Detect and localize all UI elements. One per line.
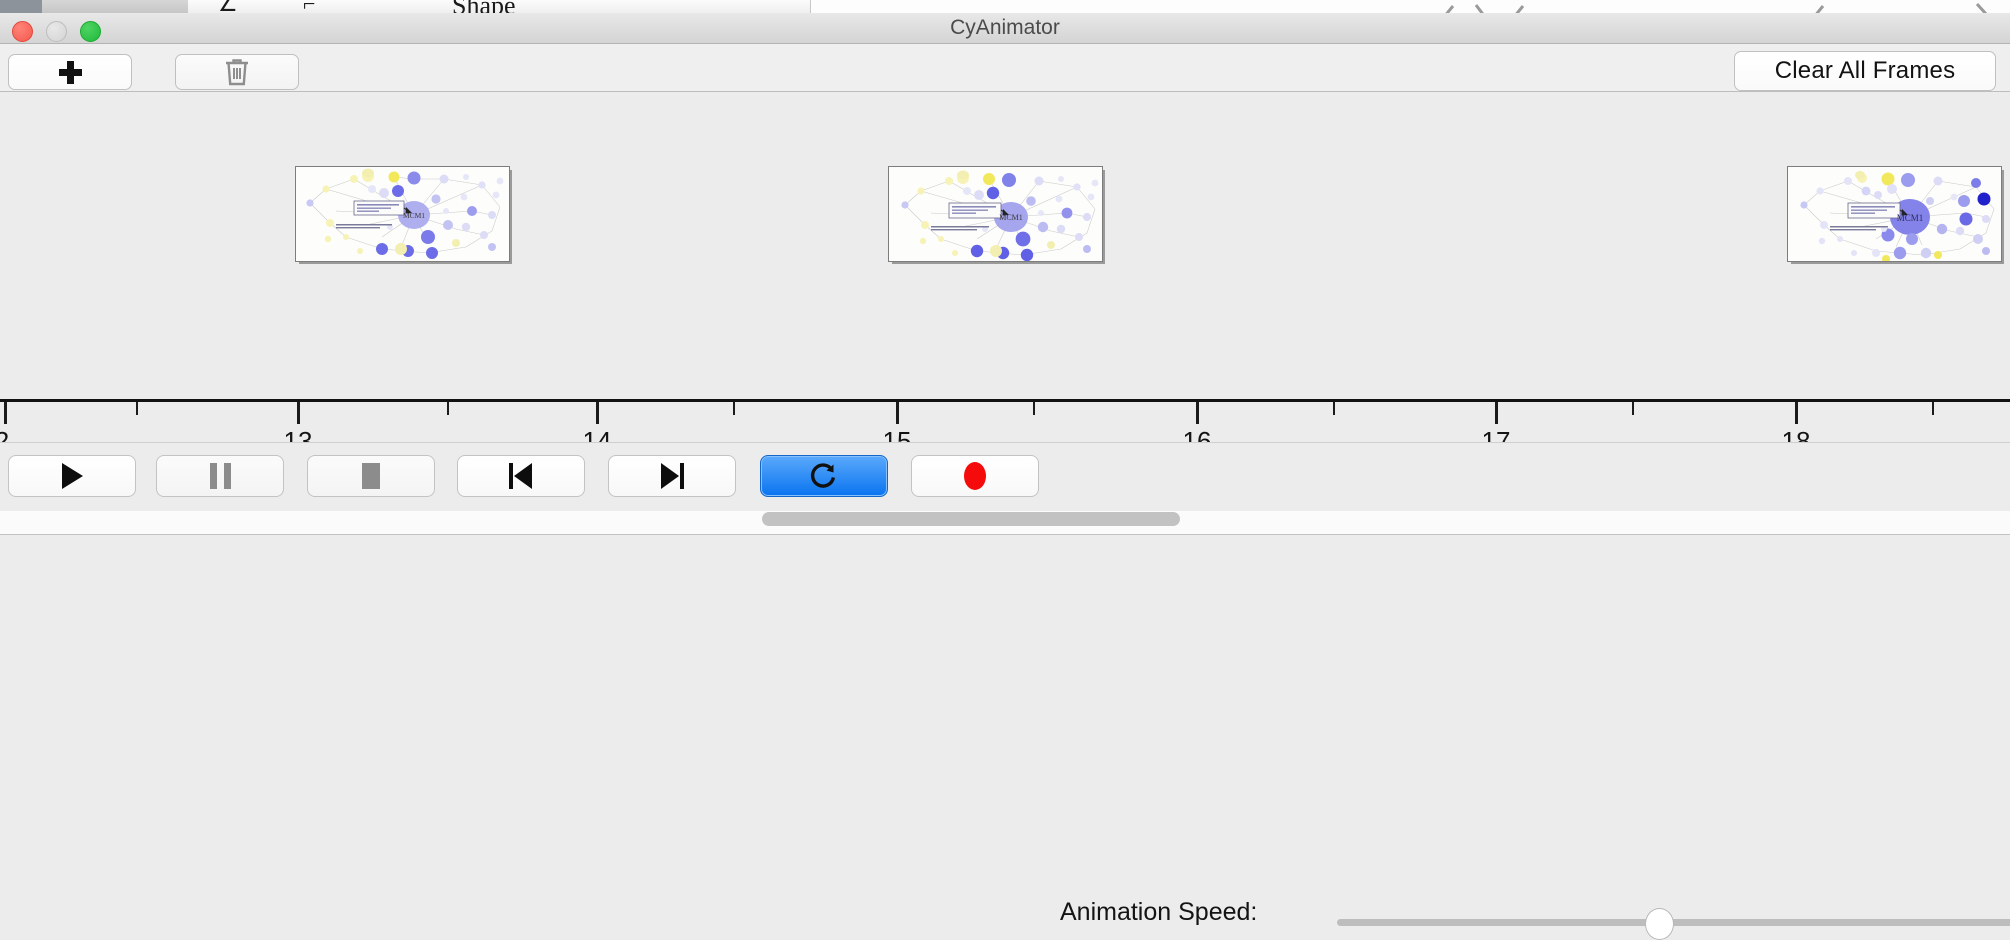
background-field-5 xyxy=(580,0,811,13)
timeline-frame-thumbnail[interactable]: MCM1 xyxy=(1787,166,2002,262)
svg-text:MCM1: MCM1 xyxy=(403,211,425,220)
thumbnail-canvas: MCM1 xyxy=(888,166,1103,262)
skip-back-icon xyxy=(508,463,534,489)
background-tab-dark xyxy=(0,0,42,13)
thumbnail-canvas: MCM1 xyxy=(295,166,510,262)
timeline-scrollbar-thumb[interactable] xyxy=(762,512,1180,526)
window-title: CyAnimator xyxy=(0,13,2010,43)
background-toolbar-segment xyxy=(42,0,188,13)
axis-tick-major xyxy=(1495,402,1498,424)
axis-tick-major xyxy=(896,402,899,424)
axis-tick-minor xyxy=(1333,402,1335,415)
title-bar: CyAnimator xyxy=(0,13,2010,44)
axis-tick-minor xyxy=(733,402,735,415)
axis-tick-major xyxy=(1196,402,1199,424)
timeline-panel[interactable]: MCM1 xyxy=(0,92,2010,410)
animation-speed-label: Animation Speed: xyxy=(1060,898,1257,927)
svg-text:MCM1: MCM1 xyxy=(999,213,1023,222)
thumbnail-canvas: MCM1 xyxy=(1787,166,2002,262)
background-window-strip: ∠ ⌐ Shape xyxy=(0,0,2010,13)
stop-icon xyxy=(362,463,380,489)
skip-back-button[interactable] xyxy=(457,455,585,497)
pause-button[interactable] xyxy=(156,455,284,497)
background-glyph-bar: ⌐ xyxy=(303,0,315,13)
clear-all-frames-button[interactable]: Clear All Frames xyxy=(1734,51,1996,91)
background-window-label: Shape xyxy=(452,0,516,13)
network-graph-1: MCM1 xyxy=(296,167,509,261)
record-button[interactable] xyxy=(911,455,1039,497)
timeline-axis-line xyxy=(0,399,2010,402)
svg-text:MCM1: MCM1 xyxy=(1897,213,1924,223)
pause-icon xyxy=(210,463,231,489)
axis-tick-major xyxy=(1795,402,1798,424)
skip-forward-icon xyxy=(659,463,685,489)
resize-grip-icon xyxy=(1975,2,2005,13)
frame-toolbar: Clear All Frames xyxy=(0,44,2010,92)
add-frame-button[interactable] xyxy=(8,54,132,90)
animation-speed-slider-knob[interactable] xyxy=(1645,908,1674,940)
axis-tick-minor xyxy=(447,402,449,415)
loop-button[interactable] xyxy=(760,455,888,497)
playback-control-bar: Animation Speed: xyxy=(0,442,2010,511)
play-icon xyxy=(62,463,83,489)
chevron-icon-1 xyxy=(1440,1,1462,13)
play-button[interactable] xyxy=(8,455,136,497)
loop-icon xyxy=(809,461,839,491)
chevron-icon-2 xyxy=(1472,1,1494,13)
axis-tick-minor xyxy=(136,402,138,415)
stop-button[interactable] xyxy=(307,455,435,497)
delete-frame-button[interactable] xyxy=(175,54,299,90)
axis-tick-minor xyxy=(1033,402,1035,415)
chevron-icon-3 xyxy=(1510,1,1532,13)
trash-icon xyxy=(223,57,251,87)
network-graph-3: MCM1 xyxy=(1788,167,2001,261)
axis-tick-minor xyxy=(1632,402,1634,415)
background-glyph-brackets: ∠ xyxy=(218,0,238,13)
axis-tick-minor xyxy=(1932,402,1934,415)
axis-tick-major xyxy=(4,402,7,424)
timeline-frame-thumbnail[interactable]: MCM1 xyxy=(295,166,510,262)
record-icon xyxy=(964,462,986,490)
timeline-frame-thumbnail[interactable]: MCM1 xyxy=(888,166,1103,262)
chevron-icon-4 xyxy=(1810,1,1832,13)
network-graph-2: MCM1 xyxy=(889,167,1102,261)
cyanimator-window: ∠ ⌐ Shape CyAnimator Clear All xyxy=(0,0,2010,510)
plus-icon xyxy=(59,61,82,84)
axis-tick-major xyxy=(596,402,599,424)
axis-tick-major xyxy=(297,402,300,424)
skip-forward-button[interactable] xyxy=(608,455,736,497)
background-field-3 xyxy=(412,0,451,13)
background-field-1 xyxy=(188,0,293,13)
